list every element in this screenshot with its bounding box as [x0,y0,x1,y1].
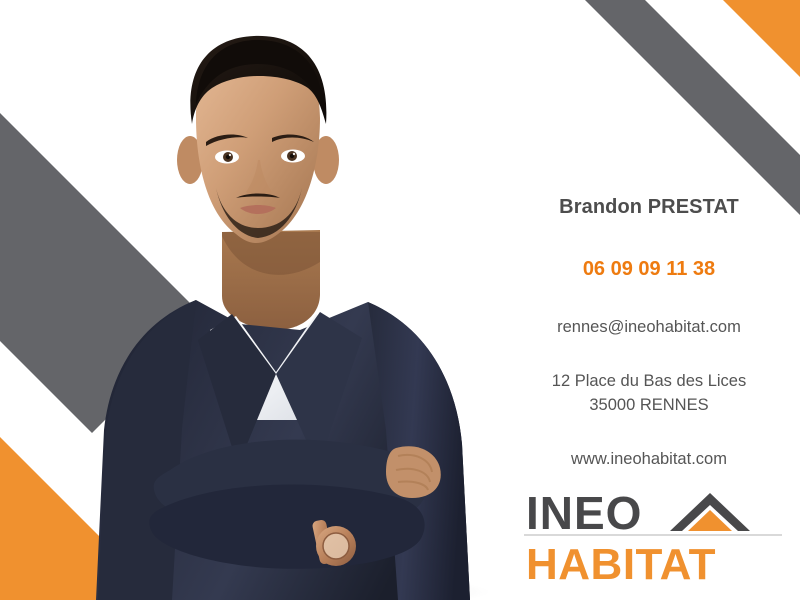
portrait-photo-image [0,0,510,600]
logo-divider [524,534,782,536]
contact-name: Brandon PRESTAT [498,196,800,218]
contact-address: 12 Place du Bas des Lices 35000 RENNES [498,370,800,418]
logo-word-habitat: HABITAT [526,540,716,587]
contact-address-line1: 12 Place du Bas des Lices [498,370,800,394]
stripe-top-right-gray [585,0,800,215]
stripe-top-right-orange [723,0,800,77]
roof-chevron-icon [670,493,750,531]
contact-phone[interactable]: 06 09 09 11 38 [498,258,800,280]
logo-word-ineo: INEO [526,487,642,539]
portrait-photo [0,0,510,600]
contact-address-line2: 35000 RENNES [498,394,800,418]
contact-email[interactable]: rennes@ineohabitat.com [498,318,800,336]
contact-website[interactable]: www.ineohabitat.com [498,450,800,468]
business-card: Brandon PRESTAT 06 09 09 11 38 rennes@in… [0,0,800,600]
contact-block: Brandon PRESTAT 06 09 09 11 38 rennes@in… [498,196,800,468]
ineo-habitat-logo[interactable]: INEO HABITAT [524,487,782,587]
